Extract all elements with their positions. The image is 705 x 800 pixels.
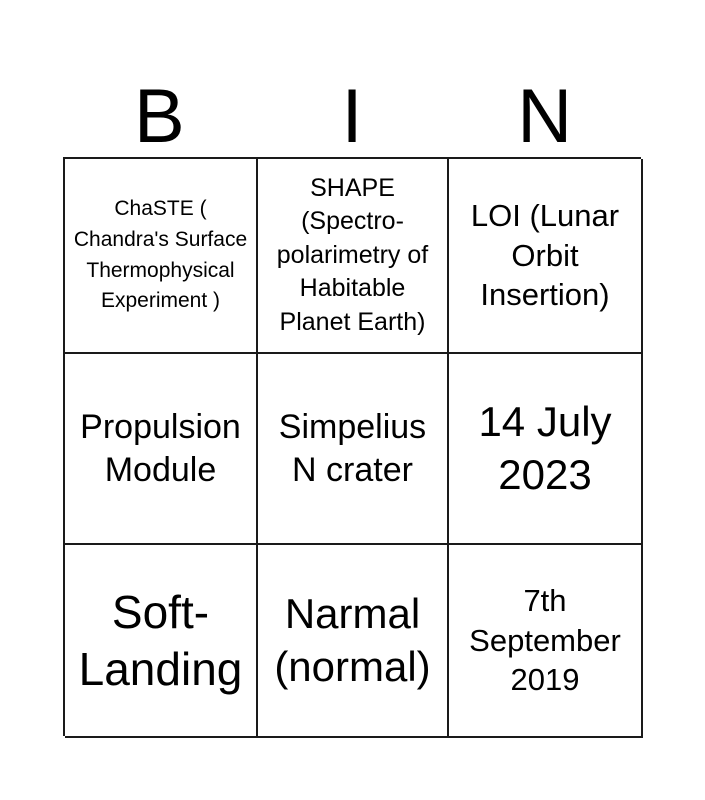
bingo-cell-6-label: 14 July 2023 bbox=[453, 396, 637, 500]
bingo-cell-9[interactable]: 7th September 2019 bbox=[449, 545, 643, 738]
bingo-cell-8-label: Narmal (normal) bbox=[262, 588, 443, 692]
bingo-cell-9-label: 7th September 2019 bbox=[453, 581, 637, 700]
bingo-cell-2-label: SHAPE (Spectro-polarimetry of Habitable … bbox=[262, 172, 443, 340]
bingo-header-row: B I N bbox=[63, 47, 641, 152]
bingo-cell-5[interactable]: Simpelius N crater bbox=[258, 354, 449, 545]
bingo-header-letter-i: I bbox=[256, 47, 449, 152]
bingo-cell-7-label: Soft-Landing bbox=[69, 584, 252, 696]
bingo-cell-5-label: Simpelius N crater bbox=[262, 406, 443, 492]
bingo-cell-6[interactable]: 14 July 2023 bbox=[449, 354, 643, 545]
bingo-cell-3[interactable]: LOI (Lunar Orbit Insertion) bbox=[449, 159, 643, 354]
bingo-cell-4[interactable]: Propulsion Module bbox=[65, 354, 258, 545]
bingo-header-letter-n: N bbox=[448, 47, 641, 152]
bingo-cell-1-label: ChaSTE ( Chandra's Surface Thermophysica… bbox=[69, 194, 252, 317]
bingo-header-letter-b: B bbox=[63, 47, 256, 152]
bingo-cell-4-label: Propulsion Module bbox=[69, 406, 252, 492]
bingo-cell-3-label: LOI (Lunar Orbit Insertion) bbox=[453, 196, 637, 315]
bingo-cell-1[interactable]: ChaSTE ( Chandra's Surface Thermophysica… bbox=[65, 159, 258, 354]
bingo-cell-7[interactable]: Soft-Landing bbox=[65, 545, 258, 738]
bingo-grid: ChaSTE ( Chandra's Surface Thermophysica… bbox=[63, 157, 641, 736]
bingo-card: B I N ChaSTE ( Chandra's Surface Thermop… bbox=[0, 0, 705, 800]
bingo-cell-8[interactable]: Narmal (normal) bbox=[258, 545, 449, 738]
bingo-cell-2[interactable]: SHAPE (Spectro-polarimetry of Habitable … bbox=[258, 159, 449, 354]
